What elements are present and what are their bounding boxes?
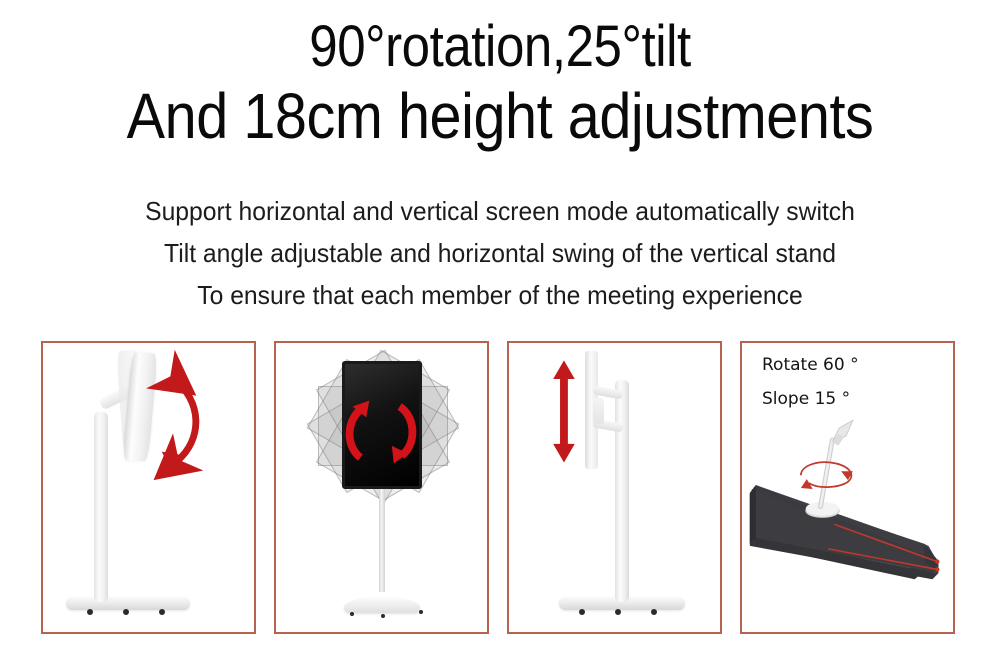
subtitle-line-1: Support horizontal and vertical screen m… xyxy=(25,190,975,232)
rotate-angle-label: Rotate 60 ° xyxy=(762,355,859,375)
feature-panel-row: Rotate 60 ° Slope 15 ° xyxy=(41,341,955,634)
subtitle-line-3: To ensure that each member of the meetin… xyxy=(25,274,975,316)
slope-angle-label: Slope 15 ° xyxy=(762,389,850,409)
height-illustration xyxy=(509,343,720,632)
slope-panel: Rotate 60 ° Slope 15 ° xyxy=(740,341,955,634)
slope-illustration: Rotate 60 ° Slope 15 ° xyxy=(742,343,953,632)
rotation-panel xyxy=(274,341,489,634)
tilt-arrow-icon xyxy=(43,343,254,632)
vertical-double-arrow-icon xyxy=(509,343,720,632)
subtitle-line-2: Tilt angle adjustable and horizontal swi… xyxy=(25,232,975,274)
height-panel xyxy=(507,341,722,634)
subtitle-block: Support horizontal and vertical screen m… xyxy=(0,190,1000,316)
page-title: 90°rotation,25°tilt And 18cm height adju… xyxy=(0,18,1000,148)
headline-line-1: 90°rotation,25°tilt xyxy=(60,18,940,76)
tilt-illustration xyxy=(43,343,254,632)
headline-line-2: And 18cm height adjustments xyxy=(50,84,950,148)
wedge-ramp-icon xyxy=(742,343,953,632)
tilt-panel xyxy=(41,341,256,634)
rotation-arrows-icon xyxy=(276,343,487,632)
rotation-illustration xyxy=(276,343,487,632)
